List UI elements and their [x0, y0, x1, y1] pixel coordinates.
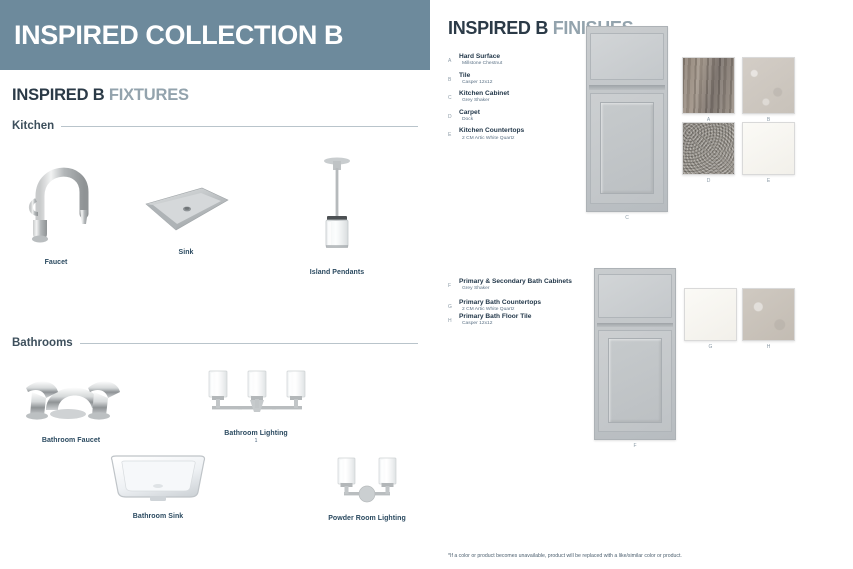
legend-sub: Casper 12x12	[459, 80, 492, 86]
legend-key: F	[448, 278, 459, 289]
door-rail	[597, 323, 672, 327]
fixture-bathroom-faucet[interactable]: Bathroom Faucet	[10, 358, 132, 444]
legend-item-e: E Kitchen Countertops 2 CM Artic White Q…	[448, 127, 568, 142]
door-label: F	[594, 443, 676, 449]
section-rule	[80, 343, 418, 344]
swatch-tile-a[interactable]: A	[682, 57, 735, 114]
bathroom-sink-icon	[104, 452, 212, 504]
fixture-caption: Bathroom Faucet	[10, 437, 132, 444]
legend-key: B	[448, 72, 459, 83]
legend-sub: 2 CM Artic White Quartz	[459, 136, 524, 142]
swatch-label: H	[742, 344, 795, 350]
fixtures-heading-bold: INSPIRED B	[12, 86, 104, 104]
legend-primary: A Hard Surface Millstone Chestnut B Tile…	[448, 53, 568, 142]
cabinet-door-image	[586, 26, 668, 212]
finishes-heading-bold: INSPIRED B	[448, 18, 548, 38]
cabinet-door-image	[594, 268, 676, 440]
legend-item-h: H Primary Bath Floor Tile Casper 12x12	[448, 313, 598, 328]
legend-key: A	[448, 53, 459, 64]
swatch-tile-g[interactable]: G	[684, 288, 737, 341]
bathroom-faucet-icon	[10, 358, 132, 428]
legend-title: Primary Bath Countertops	[459, 299, 541, 307]
fixture-caption: Sink	[140, 249, 232, 256]
legend-key: D	[448, 109, 459, 120]
legend-sub: Millstone Chestnut	[459, 61, 502, 67]
legend-secondary: F Primary & Secondary Bath Cabinets Grey…	[448, 278, 598, 328]
fixture-caption: Island Pendants	[298, 269, 376, 276]
swatch-tile	[742, 57, 795, 114]
legend-key: E	[448, 127, 459, 138]
legend-title: Hard Surface	[459, 53, 502, 61]
finishes-column: INSPIRED B FINISHES A Hard Surface Mills…	[434, 0, 853, 569]
vanity-light-2-icon	[326, 452, 408, 506]
fixture-caption: Bathroom Sink	[104, 513, 212, 520]
section-header-kitchen: Kitchen	[12, 120, 418, 132]
swatch-label: G	[684, 344, 737, 350]
legend-item-g: G Primary Bath Countertops 2 CM Artic Wh…	[448, 299, 598, 314]
page-title: INSPIRED COLLECTION B	[0, 20, 343, 51]
legend-item-d: D Carpet Dock	[448, 109, 568, 124]
fixture-subcaption: 1	[198, 438, 314, 444]
legend-title: Kitchen Countertops	[459, 127, 524, 135]
legend-item-f: F Primary & Secondary Bath Cabinets Grey…	[448, 278, 598, 293]
legend-title: Carpet	[459, 109, 480, 117]
swatch-tile-e[interactable]: E	[742, 122, 795, 175]
legend-key: C	[448, 90, 459, 101]
section-title-bathrooms: Bathrooms	[12, 337, 80, 349]
cabinet-door-f[interactable]: F	[594, 268, 676, 440]
fixture-island-pendants[interactable]: Island Pendants	[298, 152, 376, 276]
disclaimer-note: *If a color or product becomes unavailab…	[448, 553, 682, 559]
legend-key: G	[448, 299, 459, 310]
fixtures-column: INSPIRED COLLECTION B INSPIRED B FIXTURE…	[0, 0, 434, 569]
collection-board-page: INSPIRED COLLECTION B INSPIRED B FIXTURE…	[0, 0, 853, 569]
cabinet-door-c[interactable]: C	[586, 26, 668, 212]
door-panel-inset	[600, 102, 653, 194]
legend-sub: Dock	[459, 117, 480, 123]
swatch-hard-surface	[682, 57, 735, 114]
vanity-light-3-icon	[198, 366, 314, 422]
fixtures-heading: INSPIRED B FIXTURES	[12, 86, 189, 105]
swatch-label: D	[682, 178, 735, 184]
fixture-caption: Faucet	[6, 259, 106, 266]
door-panel	[598, 330, 672, 432]
fixture-bathroom-sink[interactable]: Bathroom Sink	[104, 452, 212, 520]
legend-sub: Grey Shaker	[459, 286, 572, 292]
legend-item-c: C Kitchen Cabinet Grey Shaker	[448, 90, 568, 105]
swatch-bath-countertop	[684, 288, 737, 341]
pendant-light-icon	[298, 152, 376, 260]
fixture-bathroom-lighting[interactable]: Bathroom Lighting 1	[198, 366, 314, 444]
legend-title: Tile	[459, 72, 492, 80]
legend-title: Primary & Secondary Bath Cabinets	[459, 278, 572, 286]
door-rail	[589, 85, 664, 90]
section-title-kitchen: Kitchen	[12, 120, 61, 132]
fixture-sink[interactable]: Sink	[140, 182, 232, 256]
legend-sub: Grey Shaker	[459, 98, 509, 104]
swatch-tile-h[interactable]: H	[742, 288, 795, 341]
door-label: C	[586, 215, 668, 221]
door-panel	[590, 93, 664, 203]
fixture-faucet[interactable]: Faucet	[6, 138, 106, 266]
legend-item-b: B Tile Casper 12x12	[448, 72, 568, 87]
legend-key: H	[448, 313, 459, 324]
fixture-caption: Bathroom Lighting	[198, 430, 314, 437]
legend-item-a: A Hard Surface Millstone Chestnut	[448, 53, 568, 68]
kitchen-sink-icon	[140, 182, 232, 240]
swatch-countertop	[742, 122, 795, 175]
section-header-bathrooms: Bathrooms	[12, 337, 418, 349]
swatch-label: E	[742, 178, 795, 184]
swatch-carpet	[682, 122, 735, 175]
door-panel-inset	[608, 338, 661, 423]
fixtures-heading-light: FIXTURES	[109, 86, 189, 104]
section-rule	[61, 126, 418, 127]
door-drawer-front	[590, 33, 664, 81]
swatch-bath-floor-tile	[742, 288, 795, 341]
kitchen-faucet-icon	[6, 138, 106, 250]
fixture-powder-room-lighting[interactable]: Powder Room Lighting	[326, 452, 408, 522]
legend-sub: Casper 12x12	[459, 321, 531, 327]
swatch-tile-d[interactable]: D	[682, 122, 735, 175]
door-drawer-front	[598, 274, 672, 318]
fixture-caption: Powder Room Lighting	[326, 515, 408, 522]
swatch-tile-b[interactable]: B	[742, 57, 795, 114]
page-header-bar: INSPIRED COLLECTION B	[0, 0, 430, 70]
